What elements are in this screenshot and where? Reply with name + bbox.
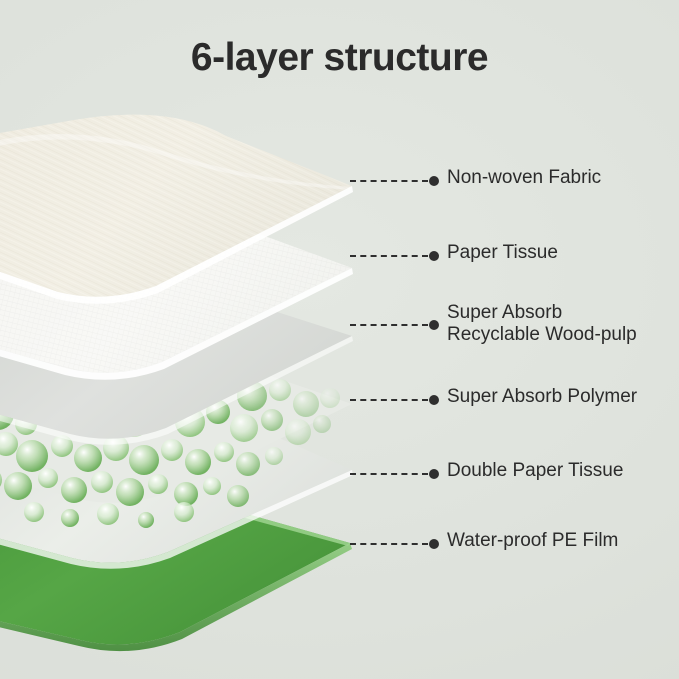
callout-label-recyclable-wood-pulp: Super Absorb Recyclable Wood-pulp (447, 302, 637, 346)
callout-label-super-absorb-polymer: Super Absorb Polymer (447, 386, 637, 408)
leader-line (350, 543, 428, 547)
leader-dot-icon (429, 320, 439, 330)
callout-label-waterproof-pe-film: Water-proof PE Film (447, 530, 618, 552)
leader-line (350, 399, 428, 403)
callout-label-non-woven-fabric: Non-woven Fabric (447, 167, 601, 189)
leader-dot-icon (429, 469, 439, 479)
callout-list: Non-woven Fabric Paper Tissue Super Abso… (0, 0, 679, 679)
leader-dot-icon (429, 176, 439, 186)
six-layer-structure-infographic: 6-layer structure (0, 0, 679, 679)
leader-dot-icon (429, 251, 439, 261)
leader-line (350, 324, 428, 328)
leader-dot-icon (429, 539, 439, 549)
callout-label-double-paper-tissue: Double Paper Tissue (447, 460, 623, 482)
leader-line (350, 180, 428, 184)
leader-line (350, 473, 428, 477)
leader-line (350, 255, 428, 259)
leader-dot-icon (429, 395, 439, 405)
callout-label-paper-tissue: Paper Tissue (447, 242, 558, 264)
